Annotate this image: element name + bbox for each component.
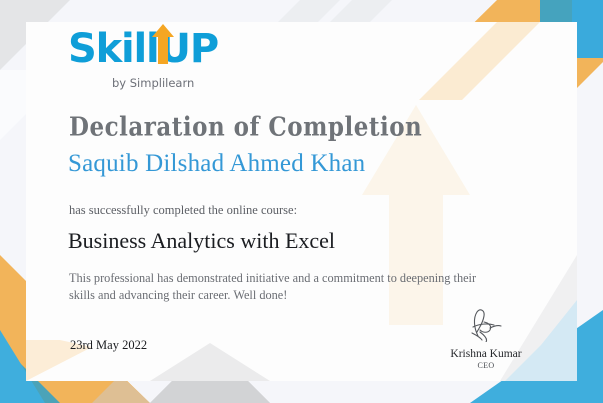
issue-date: 23rd May 2022 bbox=[70, 338, 147, 353]
logo-tagline: by Simplilearn bbox=[68, 76, 268, 90]
up-arrow-icon bbox=[152, 24, 174, 64]
signatory-role: CEO bbox=[432, 361, 540, 370]
skillup-logo: SkillUP by Simplilearn bbox=[68, 26, 268, 90]
course-title: Business Analytics with Excel bbox=[68, 228, 335, 254]
signature-icon bbox=[432, 306, 540, 342]
signature-block: Krishna Kumar CEO bbox=[432, 306, 540, 370]
completion-statement: has successfully completed the online co… bbox=[69, 203, 297, 218]
signatory-name: Krishna Kumar bbox=[432, 348, 540, 360]
page-title: Declaration of Completion bbox=[69, 112, 422, 142]
recipient-name: Saquib Dilshad Ahmed Khan bbox=[68, 150, 365, 178]
certificate-document: SkillUP by Simplilearn Declaration of Co… bbox=[0, 0, 603, 403]
certificate-body-text: This professional has demonstrated initi… bbox=[69, 270, 499, 304]
logo-mark: SkillUP bbox=[68, 26, 268, 72]
certificate-content: SkillUP by Simplilearn Declaration of Co… bbox=[0, 0, 603, 403]
